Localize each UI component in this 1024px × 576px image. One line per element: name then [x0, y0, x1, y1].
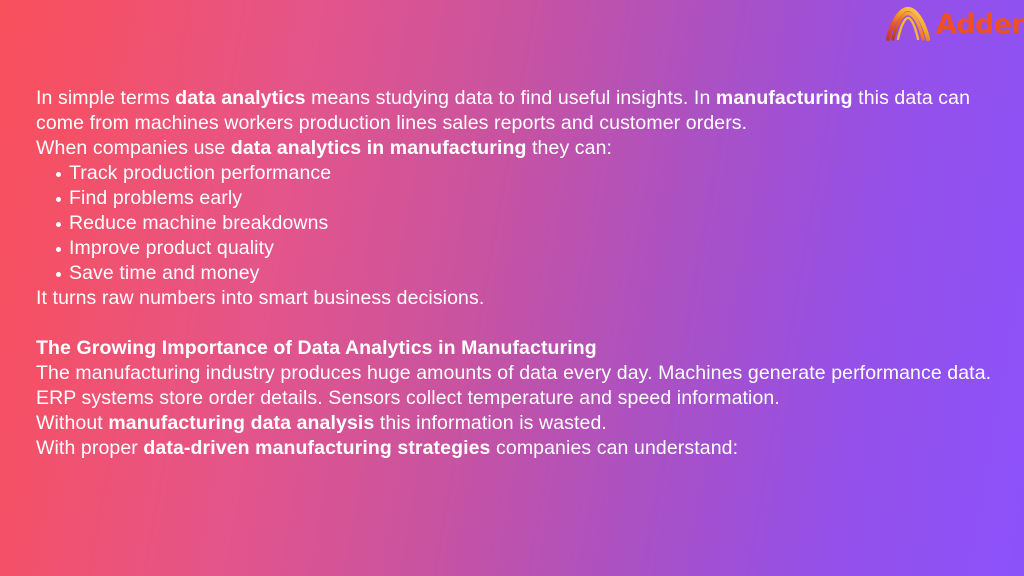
slide-canvas: Addend In simple terms data analytics me… — [0, 0, 1024, 576]
addend-arch-logo-icon — [884, 6, 932, 42]
body-paragraph-2: Without manufacturing data analysis this… — [36, 411, 1011, 436]
with-bold: data-driven manufacturing strategies — [143, 437, 490, 459]
intro-paragraph: In simple terms data analytics means stu… — [36, 86, 1011, 136]
section-spacer — [36, 311, 1011, 336]
body-paragraph-1: The manufacturing industry produces huge… — [36, 361, 1011, 411]
lead-in-text-2: they can: — [527, 137, 613, 159]
list-item: Reduce machine breakdowns — [36, 211, 1011, 236]
list-item: Find problems early — [36, 186, 1011, 211]
lead-in-paragraph: When companies use data analytics in man… — [36, 136, 1011, 161]
list-item: Save time and money — [36, 261, 1011, 286]
intro-text-1: In simple terms — [36, 87, 175, 109]
with-text-2: companies can understand: — [491, 437, 739, 459]
section-heading: The Growing Importance of Data Analytics… — [36, 336, 1011, 361]
without-text-1: Without — [36, 412, 108, 434]
without-text-2: this information is wasted. — [374, 412, 607, 434]
slide-content: In simple terms data analytics means stu… — [36, 86, 1011, 461]
intro-bold-1: data analytics — [175, 87, 305, 109]
intro-text-2: means studying data to find useful insig… — [306, 87, 716, 109]
lead-in-bold: data analytics in manufacturing — [231, 137, 527, 159]
without-bold: manufacturing data analysis — [108, 412, 374, 434]
body-paragraph-3: With proper data-driven manufacturing st… — [36, 436, 1011, 461]
list-item: Improve product quality — [36, 236, 1011, 261]
intro-bold-2: manufacturing — [716, 87, 853, 109]
benefits-list: Track production performance Find proble… — [36, 161, 1011, 286]
closing-paragraph: It turns raw numbers into smart business… — [36, 286, 1011, 311]
lead-in-text-1: When companies use — [36, 137, 231, 159]
with-text-1: With proper — [36, 437, 143, 459]
brand-logo: Addend — [884, 6, 1024, 42]
logo-wordmark: Addend — [936, 11, 1024, 38]
list-item: Track production performance — [36, 161, 1011, 186]
